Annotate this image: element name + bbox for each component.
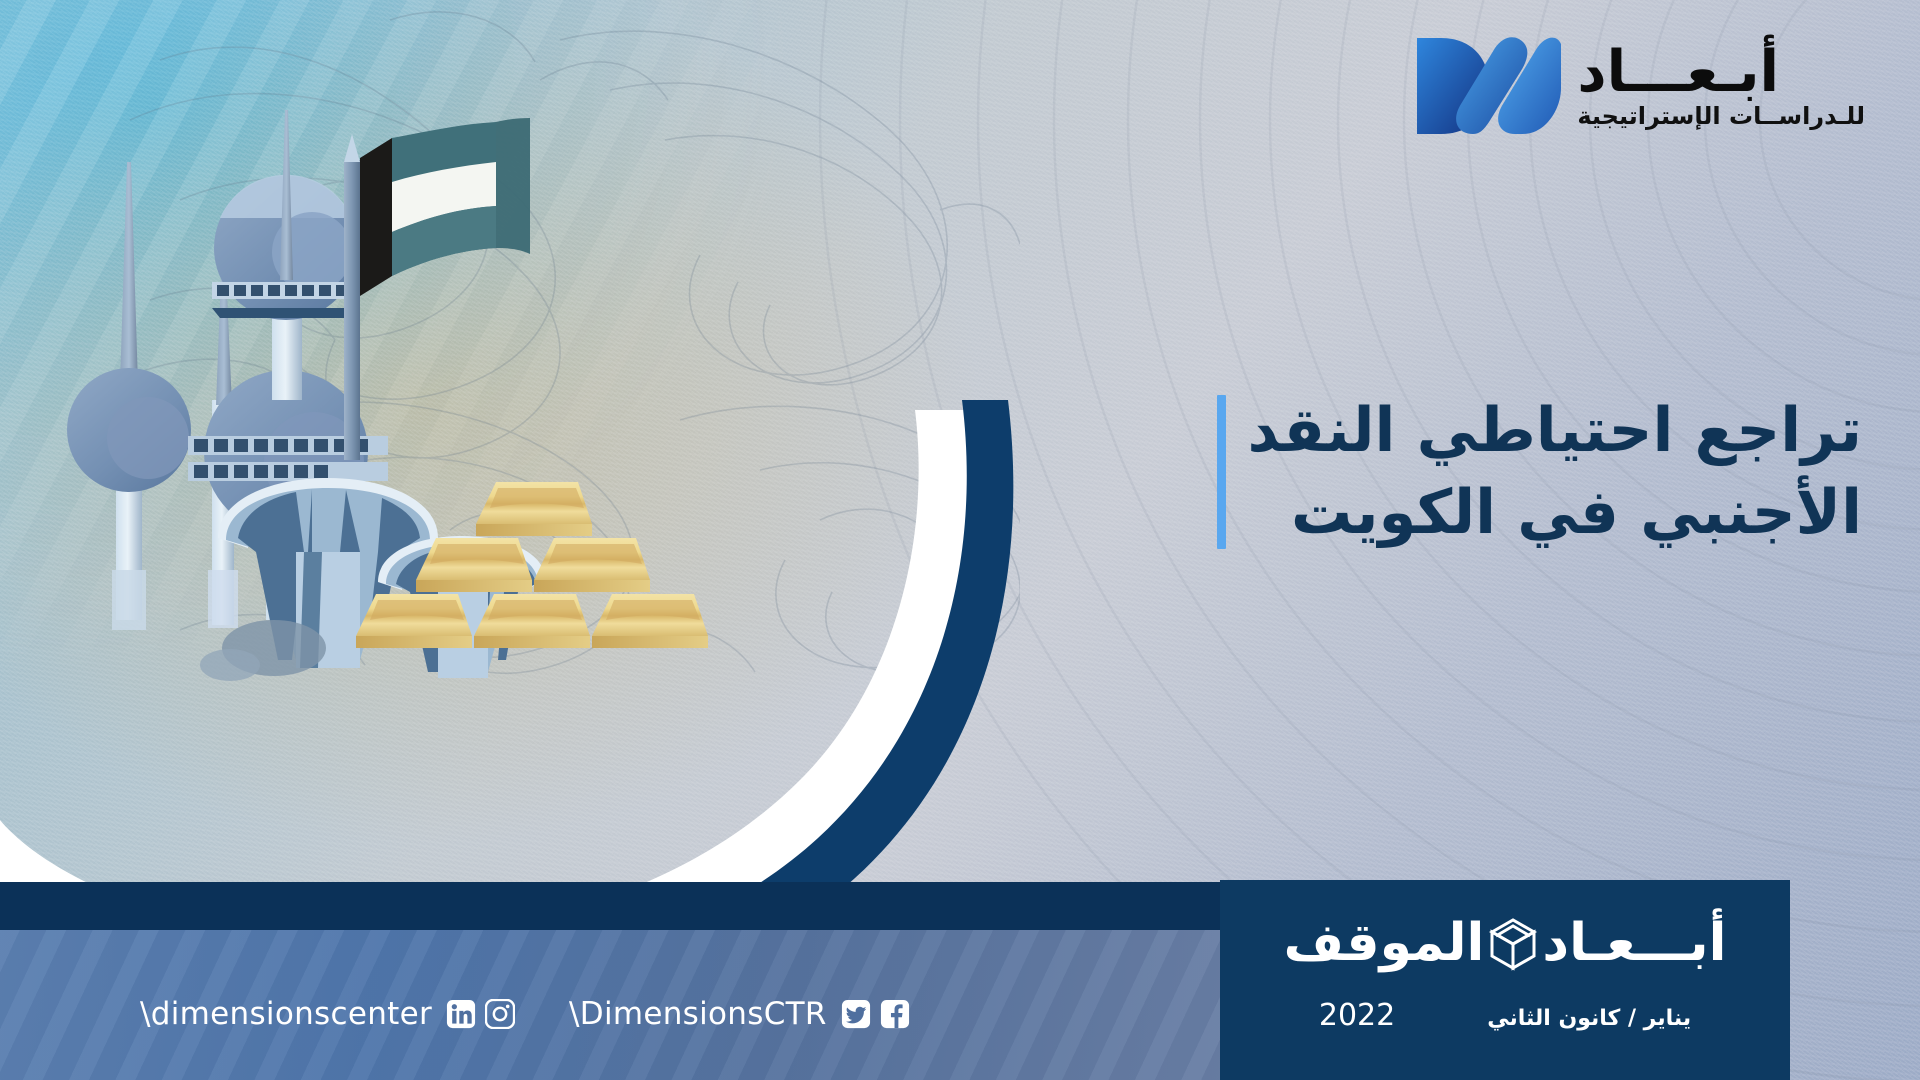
headline-accent-bar [1217, 395, 1226, 549]
social-group-primary [841, 999, 910, 1029]
poster-canvas: أبـعـــاد للـدراســات الإستراتيجية ت [0, 0, 1920, 1080]
gold-bar [356, 594, 472, 648]
facebook-icon[interactable] [880, 999, 910, 1029]
headline-line-2: الأجنبي في الكويت [1248, 477, 1862, 549]
issue-badge-word-left: الموقف [1284, 917, 1485, 969]
gold-bar [474, 594, 590, 648]
twitter-icon[interactable] [841, 999, 871, 1029]
social-handle-secondary[interactable]: \dimensionscenter [140, 996, 432, 1032]
issue-badge-meta: يناير / كانون الثاني 2022 [1319, 998, 1691, 1033]
instagram-icon[interactable] [485, 999, 515, 1029]
social-links: \DimensionsCTR \dimensionscenter [140, 996, 910, 1032]
kuwait-towers-illustration [60, 100, 900, 720]
gold-bar [592, 594, 708, 648]
linkedin-icon[interactable] [446, 999, 476, 1029]
issue-month: يناير / كانون الثاني [1487, 1006, 1691, 1031]
issue-badge: أبـــعـاد الموقف يناير / كانون الثاني 20… [1220, 880, 1790, 1080]
headline-line-1: تراجع احتياطي النقد [1248, 395, 1862, 467]
issue-year: 2022 [1319, 998, 1395, 1033]
tower-left [67, 162, 191, 630]
dss-monogram-icon [1411, 32, 1561, 140]
issue-badge-title: أبـــعـاد الموقف [1284, 914, 1727, 972]
brand-logo: أبـعـــاد للـدراســات الإستراتيجية [1411, 32, 1865, 140]
kuwait-flag [344, 118, 530, 460]
brand-subtitle: للـدراســات الإستراتيجية [1577, 104, 1865, 128]
gold-bar [534, 538, 650, 592]
headline-block: تراجع احتياطي النقد الأجنبي في الكويت [1217, 395, 1862, 549]
footer-navy-bar [0, 882, 1270, 930]
cube-icon [1482, 914, 1544, 972]
social-group-secondary [446, 999, 515, 1029]
headline-lines: تراجع احتياطي النقد الأجنبي في الكويت [1248, 395, 1862, 549]
ground-rocks [200, 620, 326, 681]
brand-logo-text: أبـعـــاد للـدراســات الإستراتيجية [1577, 44, 1865, 128]
gold-bar [476, 482, 592, 536]
social-handle-primary[interactable]: \DimensionsCTR [569, 996, 827, 1032]
issue-badge-word-right: أبـــعـاد [1542, 917, 1726, 969]
brand-name: أبـعـــاد [1577, 44, 1779, 101]
gold-bar [416, 538, 532, 592]
